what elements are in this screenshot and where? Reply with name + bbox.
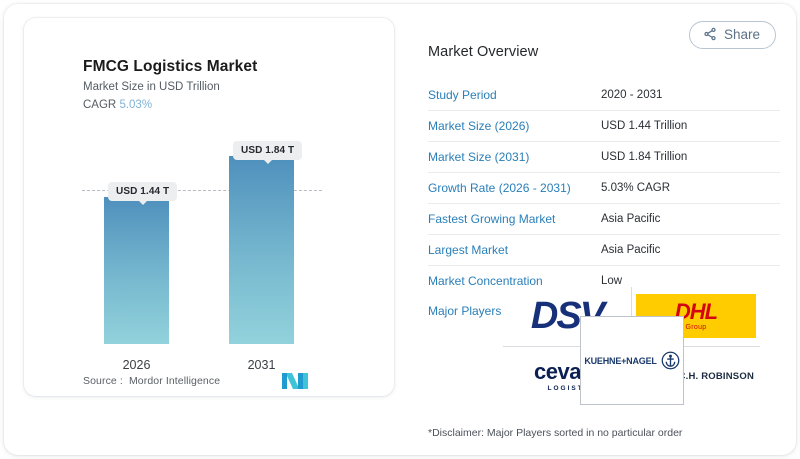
table-row: Growth Rate (2026 - 2031) 5.03% CAGR	[428, 173, 780, 204]
row-value: 5.03% CAGR	[601, 173, 780, 204]
kuehne-nagel-logo: KUEHNE+NAGEL	[584, 351, 679, 370]
source-text: Source : Mordor Intelligence	[83, 375, 220, 387]
source-name: Mordor Intelligence	[129, 375, 220, 387]
row-value: Asia Pacific	[601, 204, 780, 235]
market-overview-panel: Market Overview Study Period 2020 - 2031…	[428, 44, 780, 326]
bar-2031[interactable]	[229, 156, 294, 344]
disclaimer-text: *Disclaimer: Major Players sorted in no …	[428, 427, 682, 439]
table-row: Largest Market Asia Pacific	[428, 235, 780, 266]
kuehne-nagel-wordmark: KUEHNE+NAGEL	[584, 356, 656, 366]
ch-robinson-wordmark: C.H. ROBINSON	[679, 371, 754, 382]
player-logo-kuehne-nagel[interactable]: KUEHNE+NAGEL	[580, 316, 684, 405]
panel-title: Market Overview	[428, 44, 780, 60]
kuehne-nagel-anchor-icon	[661, 351, 680, 370]
chart-card: FMCG Logistics Market Market Size in USD…	[24, 18, 394, 396]
dhl-sub: Group	[686, 324, 707, 331]
source-prefix: Source :	[83, 375, 123, 387]
share-nodes-icon	[703, 27, 717, 44]
row-label: Study Period	[428, 80, 601, 111]
row-value: 2020 - 2031	[601, 80, 780, 111]
table-row: Study Period 2020 - 2031	[428, 80, 780, 111]
row-value: Asia Pacific	[601, 235, 780, 266]
x-axis-label-2026: 2026	[104, 358, 169, 372]
row-label: Largest Market	[428, 235, 601, 266]
share-button-label: Share	[724, 28, 760, 42]
table-row: Market Size (2031) USD 1.84 Trillion	[428, 142, 780, 173]
ceva-wordmark: ceva	[534, 361, 581, 383]
bar-chart-plot: USD 1.44 T USD 1.84 T 2026 2031	[24, 18, 394, 396]
mordor-intelligence-logo	[282, 373, 308, 389]
table-row: Market Size (2026) USD 1.44 Trillion	[428, 111, 780, 142]
row-label: Market Size (2031)	[428, 142, 601, 173]
row-value: USD 1.84 Trillion	[601, 142, 780, 173]
row-label: Fastest Growing Market	[428, 204, 601, 235]
bar-value-label-2031: USD 1.84 T	[233, 141, 302, 160]
row-label: Market Size (2026)	[428, 111, 601, 142]
table-row: Fastest Growing Market Asia Pacific	[428, 204, 780, 235]
row-value: USD 1.44 Trillion	[601, 111, 780, 142]
bar-value-label-2026: USD 1.44 T	[108, 182, 177, 201]
row-label: Growth Rate (2026 - 2031)	[428, 173, 601, 204]
bar-2026[interactable]	[104, 197, 169, 344]
x-axis-label-2031: 2031	[229, 358, 294, 372]
report-card: Share FMCG Logistics Market Market Size …	[4, 4, 796, 455]
major-players-logo-grid: DSV DHL Group ceva LOGISTICS	[503, 287, 761, 405]
